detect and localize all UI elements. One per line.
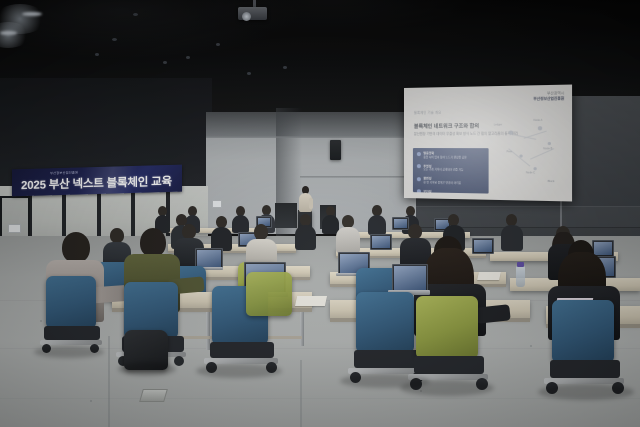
back-wall-upper-band <box>206 112 418 138</box>
attendee-head <box>408 224 422 239</box>
slide-heading: 블록체인 네트워크 구조와 합의 <box>414 122 479 130</box>
diagram-label: Node B <box>543 147 552 150</box>
ceiling-projector <box>238 7 267 20</box>
floor-seam <box>0 398 640 399</box>
chair-green[interactable] <box>246 272 292 316</box>
chair-blue[interactable] <box>356 292 414 352</box>
ceiling-fixture <box>216 43 220 46</box>
projector-lens <box>242 12 251 21</box>
laptop-display <box>594 242 612 255</box>
slide-callout-item: 보안성 암호화 해시로 위·변조를 방지 <box>417 189 484 194</box>
bullet-icon <box>417 152 421 156</box>
laptop-display <box>197 250 221 267</box>
diagram-node <box>519 154 522 157</box>
callout-title: 보안성 <box>423 189 455 194</box>
presenter-arm <box>309 198 313 209</box>
attendee-head <box>62 232 90 263</box>
bullet-icon <box>417 177 421 181</box>
attendee-head <box>110 228 124 243</box>
backpack-shadow <box>118 362 176 376</box>
attendee-head <box>140 228 166 257</box>
ceiling-fixture <box>247 72 251 75</box>
slide-callout-box: 탈중앙화 중앙 서버 없이 참여 노드가 원장을 공유 투명성 모든 거래 기록… <box>413 148 489 194</box>
ceiling-light <box>0 31 17 35</box>
diagram-label: Ledger <box>494 123 502 126</box>
projection-screen: 부산광역시 부산정보산업진흥원 블록체인 기술 개요 블록체인 네트워크 구조와… <box>404 85 572 202</box>
ceiling-light <box>22 12 42 16</box>
ceiling-fixture <box>133 13 138 16</box>
bullet-icon <box>417 189 421 193</box>
diagram-label: Block <box>548 180 555 183</box>
chair-seat[interactable] <box>550 360 620 378</box>
av-cabinet <box>275 203 297 228</box>
diagram-node <box>533 167 536 170</box>
chair-seat[interactable] <box>354 350 420 368</box>
laptop-display <box>372 236 390 248</box>
callout-body: 모든 거래 기록이 공개되어 검증 가능 <box>423 169 463 172</box>
wall-notice <box>212 200 222 208</box>
ceiling-fixture <box>186 56 190 59</box>
chair-shadow <box>34 346 104 358</box>
banner-glare <box>12 165 182 197</box>
attendee-laptop <box>370 234 392 250</box>
floor-power-outlet <box>139 389 168 402</box>
ceiling-fixture <box>163 61 167 64</box>
handout-paper <box>477 272 501 280</box>
wall-speaker <box>330 140 341 160</box>
laptop-display <box>474 240 492 252</box>
attendee-head <box>182 224 196 239</box>
floor-seam <box>300 360 302 427</box>
chair-blue[interactable] <box>46 276 96 328</box>
chair-caster <box>174 356 184 366</box>
event-banner: 부산정보산업진흥원 2025 부산 넥스트 블록체인 교육 <box>12 165 182 197</box>
handout-paper <box>295 296 327 306</box>
bottle-cap <box>517 262 524 267</box>
slide-callout-item: 탈중앙화 중앙 서버 없이 참여 노드가 원장을 공유 <box>417 151 484 161</box>
slide-diagram: Ledger Node A Node B Peer Node C Block <box>498 116 565 190</box>
chair-seat[interactable] <box>210 342 274 358</box>
chair-blue[interactable] <box>552 300 614 362</box>
slide-eyebrow: 블록체인 기술 개요 <box>414 110 441 115</box>
slide-callout-item: 불변성 한 번 기록된 블록은 변경이 어려움 <box>417 176 484 186</box>
ceiling-fixture <box>95 53 99 56</box>
chair-shadow <box>196 364 282 378</box>
chair-green[interactable] <box>416 296 478 358</box>
attendee-laptop <box>472 238 494 254</box>
floor-texture <box>40 320 42 322</box>
ceiling-fixture <box>283 66 287 69</box>
floor-texture <box>530 345 532 347</box>
diagram-node <box>509 131 513 135</box>
attendee-torso <box>336 227 360 253</box>
diagram-label: Peer <box>507 150 513 153</box>
callout-body: 중앙 서버 없이 참여 노드가 원장을 공유 <box>423 156 466 159</box>
projected-slide: 부산광역시 부산정보산업진흥원 블록체인 기술 개요 블록체인 네트워크 구조와… <box>404 85 572 202</box>
diagram-node <box>548 142 551 145</box>
attendee-torso <box>295 225 316 250</box>
classroom-photo: 부산정보산업진흥원 2025 부산 넥스트 블록체인 교육 부산광역시 부산정보… <box>0 0 640 427</box>
diagram-node <box>538 126 542 130</box>
diagram-label: Node C <box>526 171 535 174</box>
chair-seat[interactable] <box>414 356 484 374</box>
diagram-edge <box>524 131 547 139</box>
slide-brand: 부산광역시 부산정보산업진흥원 <box>533 91 564 102</box>
slide-brand-line2: 부산정보산업진흥원 <box>533 96 564 101</box>
slide-callout-item: 투명성 모든 거래 기록이 공개되어 검증 가능 <box>417 164 484 174</box>
laptop-display <box>394 266 426 290</box>
floor-seam <box>108 336 110 427</box>
attendee-head <box>254 224 268 240</box>
diagram-label: Node A <box>533 119 542 122</box>
water-bottle <box>516 266 525 287</box>
wall-rail <box>206 136 418 138</box>
attendee-laptop <box>392 264 428 292</box>
attendee-torso <box>232 215 249 233</box>
laptop-display <box>394 219 407 228</box>
attendee-torso <box>368 215 386 235</box>
chair-shadow <box>400 380 494 396</box>
callout-body: 한 번 기록된 블록은 변경이 어려움 <box>423 181 461 185</box>
chair-seat[interactable] <box>44 326 100 340</box>
floor-texture <box>90 400 92 402</box>
door-sign <box>8 224 21 233</box>
attendee-laptop <box>392 217 409 230</box>
desk-leg <box>300 312 304 346</box>
ceiling-fixture <box>112 38 117 41</box>
bullet-icon <box>417 164 421 168</box>
attendee-torso <box>501 225 523 251</box>
chair-shadow <box>538 384 634 400</box>
wall-rail <box>300 176 418 178</box>
